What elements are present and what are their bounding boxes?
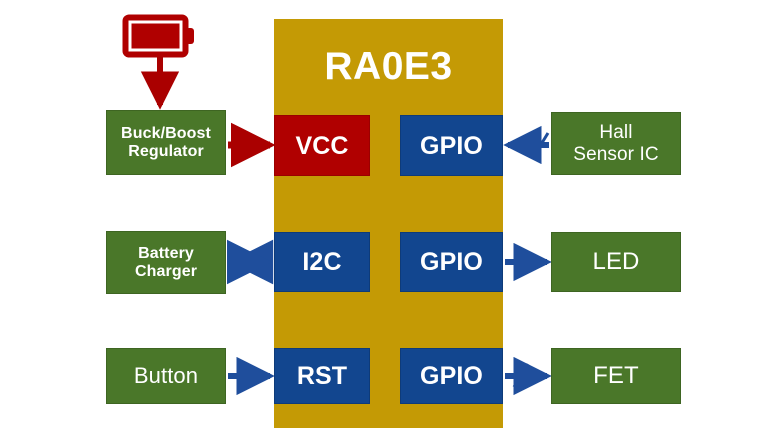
bus-slash-icon bbox=[514, 364, 528, 387]
mcu-pin-gpio-1[interactable]: GPIO bbox=[400, 115, 503, 176]
label-line-2: Charger bbox=[135, 263, 197, 280]
block-label: Buck/BoostRegulator bbox=[121, 125, 211, 161]
block-label: GPIO bbox=[420, 362, 483, 390]
block-led[interactable]: LED bbox=[551, 232, 681, 292]
block-buck-boost-regulator[interactable]: Buck/BoostRegulator bbox=[106, 110, 226, 175]
block-label: I2C bbox=[302, 248, 341, 276]
bus-slash-icon bbox=[534, 133, 548, 156]
block-label: GPIO bbox=[420, 132, 483, 160]
label-line-1: Hall bbox=[599, 122, 632, 143]
block-button[interactable]: Button bbox=[106, 348, 226, 404]
battery-icon bbox=[122, 14, 198, 58]
mcu-pin-rst[interactable]: RST bbox=[274, 348, 370, 404]
block-label: GPIO bbox=[420, 248, 483, 276]
block-label: BatteryCharger bbox=[135, 245, 197, 281]
label-line-2: Regulator bbox=[128, 143, 204, 160]
block-hall-sensor-ic[interactable]: HallSensor IC bbox=[551, 112, 681, 175]
block-label: VCC bbox=[295, 132, 348, 160]
mcu-pin-gpio-3[interactable]: GPIO bbox=[400, 348, 503, 404]
block-battery-charger[interactable]: BatteryCharger bbox=[106, 231, 226, 294]
block-label: HallSensor IC bbox=[573, 122, 658, 165]
wire-gpio-to-fet bbox=[505, 364, 547, 387]
block-fet[interactable]: FET bbox=[551, 348, 681, 404]
mcu-pin-vcc[interactable]: VCC bbox=[274, 115, 370, 176]
block-label: Button bbox=[134, 364, 198, 389]
mcu-title: RA0E3 bbox=[274, 45, 503, 89]
label-line-1: Battery bbox=[138, 245, 194, 262]
mcu-pin-gpio-2[interactable]: GPIO bbox=[400, 232, 503, 292]
wire-hallsensor-to-gpio bbox=[508, 133, 549, 156]
mcu-pin-i2c[interactable]: I2C bbox=[274, 232, 370, 292]
label-line-1: Buck/Boost bbox=[121, 125, 211, 142]
label-line-2: Sensor IC bbox=[573, 144, 658, 165]
block-label: LED bbox=[593, 249, 640, 276]
block-label: FET bbox=[593, 363, 639, 390]
block-label: RST bbox=[297, 362, 347, 390]
block-diagram-canvas: RA0E3 bbox=[0, 0, 763, 439]
